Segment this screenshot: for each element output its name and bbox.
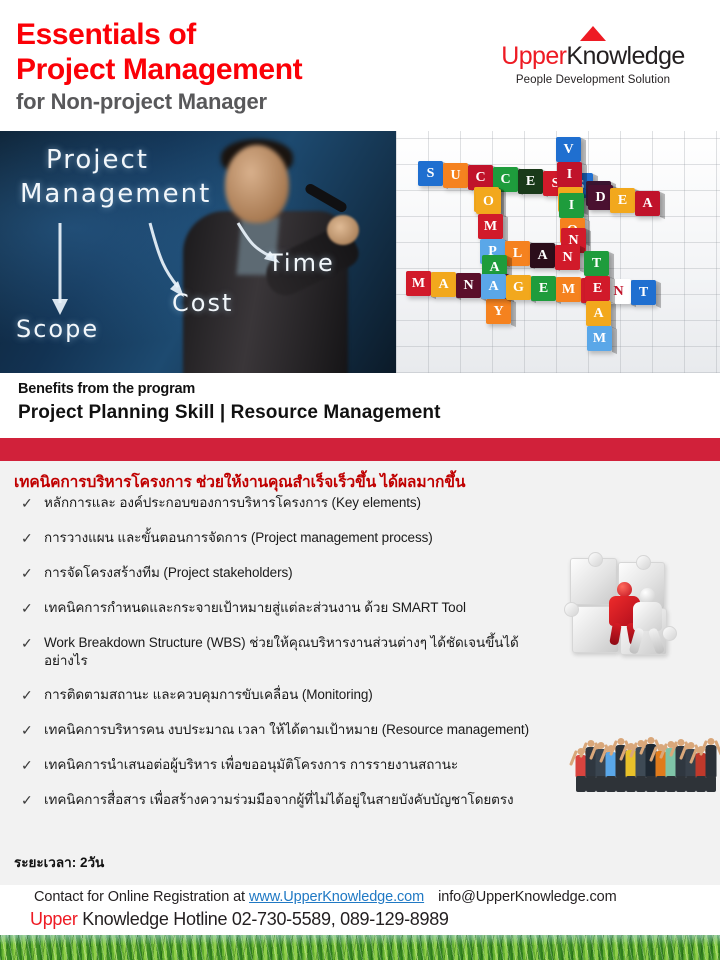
benefit-list-item-text: เทคนิคการสื่อสาร เพื่อสร้างความร่วมมือจา… <box>44 791 534 809</box>
logo-wordmark: UpperKnowledge <box>478 42 708 70</box>
title-line-2: Project Management <box>16 52 302 87</box>
person-head <box>648 737 655 744</box>
puzzle-knob <box>636 555 651 570</box>
benefit-list-item-text: การติดตามสถานะ และควบคุมการขับเคลื่อน (M… <box>44 686 534 704</box>
letter-cube: N <box>456 273 481 298</box>
person-body <box>706 745 717 777</box>
check-icon: ✓ <box>14 756 44 775</box>
handwriting-management: Management <box>20 179 211 209</box>
celebrating-people-illustration <box>566 720 716 792</box>
header: Essentials of Project Management for Non… <box>0 0 720 131</box>
letter-cube: N <box>555 245 580 270</box>
email-text: info@UpperKnowledge.com <box>438 889 616 905</box>
benefit-list-item: ✓เทคนิคการบริหารคน งบประมาณ เวลา ให้ได้ต… <box>14 721 534 740</box>
letter-cube: A <box>635 191 660 216</box>
red-divider-bar <box>0 438 720 461</box>
crossword-cubes-photo: SUCCESSVISIONIDEACOMPLANANYMANAGEMENTTEA… <box>396 131 720 373</box>
letter-cube: A <box>530 243 555 268</box>
check-icon: ✓ <box>14 721 44 740</box>
check-icon: ✓ <box>14 494 44 513</box>
benefit-list-item-text: การจัดโครงสร้างทีม (Project stakeholders… <box>44 564 534 582</box>
letter-cube: V <box>556 137 581 162</box>
letter-cube: T <box>584 251 609 276</box>
letter-cube: M <box>587 326 612 351</box>
white-figure-body <box>633 602 662 631</box>
puzzle-knob <box>564 602 579 617</box>
letter-cube: T <box>631 280 656 305</box>
check-icon: ✓ <box>14 599 44 618</box>
hotline-line: Upper Knowledge Hotline 02-730-5589, 089… <box>30 909 449 930</box>
project-management-photo: Project Management Scope Cost Time <box>0 131 396 373</box>
benefits-label: Benefits from the program <box>18 380 720 399</box>
logo-upper-text: Upper <box>501 42 566 70</box>
letter-cube: M <box>556 277 581 302</box>
letter-cube: O <box>476 189 501 214</box>
benefit-list-item: ✓หลักการและ องค์ประกอบของการบริหารโครงกา… <box>14 494 534 513</box>
letter-cube: I <box>559 193 584 218</box>
white-figure-leg <box>648 627 665 655</box>
logo-tagline: People Development Solution <box>478 74 708 86</box>
handwriting-cost: Cost <box>172 289 233 317</box>
check-icon: ✓ <box>14 634 44 653</box>
benefit-list-item: ✓การวางแผน และขั้นตอนการจัดการ (Project … <box>14 529 534 548</box>
benefit-list: ✓หลักการและ องค์ประกอบของการบริหารโครงกา… <box>14 494 534 826</box>
letter-cube: U <box>443 163 468 188</box>
title-line-1: Essentials of <box>16 17 302 52</box>
page-title: Essentials of Project Management for Non… <box>16 17 302 117</box>
benefit-list-item: ✓เทคนิคการนำเสนอต่อผู้บริหาร เพื่อขออนุม… <box>14 756 534 775</box>
check-icon: ✓ <box>14 791 44 810</box>
logo-knowledge-text: Knowledge <box>566 42 684 70</box>
letter-cube: I <box>557 162 582 187</box>
letter-cube: E <box>531 276 556 301</box>
grass-footer-strip <box>0 935 720 960</box>
puzzle-knob <box>588 552 603 567</box>
benefit-list-item-text: Work Breakdown Structure (WBS) ช่วยให้คุ… <box>44 634 534 670</box>
hotline-number: Knowledge Hotline 02-730-5589, 089-129-8… <box>78 909 449 929</box>
letter-cube: E <box>518 169 543 194</box>
footer: Contact for Online Registration atwww.Up… <box>0 885 720 935</box>
handwriting-scope: Scope <box>16 315 99 343</box>
person-silhouette <box>702 738 720 792</box>
benefit-list-item: ✓เทคนิคการกำหนดและกระจายเป้าหมายสู่แต่ละ… <box>14 599 534 618</box>
puzzle-illustration <box>566 550 678 660</box>
contact-prefix: Contact for Online Registration at <box>34 889 245 905</box>
benefit-list-item-text: หลักการและ องค์ประกอบของการบริหารโครงการ… <box>44 494 534 512</box>
contact-line: Contact for Online Registration atwww.Up… <box>34 889 617 905</box>
duration-label: ระยะเวลา: 2วัน <box>14 851 104 873</box>
letter-cube: G <box>506 275 531 300</box>
content-heading: เทคนิคการบริหารโครงการ ช่วยให้งานคุณสำเร… <box>14 469 465 494</box>
check-icon: ✓ <box>14 564 44 583</box>
benefit-list-item-text: เทคนิคการบริหารคน งบประมาณ เวลา ให้ได้ตา… <box>44 721 534 739</box>
benefit-list-item: ✓การจัดโครงสร้างทีม (Project stakeholder… <box>14 564 534 583</box>
letter-cube: E <box>585 276 610 301</box>
hero-images: Project Management Scope Cost Time SUCCE… <box>0 131 720 373</box>
white-figure-leg <box>629 627 645 654</box>
content-panel: เทคนิคการบริหารโครงการ ช่วยให้งานคุณสำเร… <box>0 461 720 885</box>
benefit-list-item: ✓เทคนิคการสื่อสาร เพื่อสร้างความร่วมมือจ… <box>14 791 534 810</box>
brand-logo: UpperKnowledge People Development Soluti… <box>478 26 708 86</box>
letter-cube: Y <box>486 299 511 324</box>
benefits-headline: Project Planning Skill | Resource Manage… <box>18 400 720 426</box>
benefit-list-item: ✓Work Breakdown Structure (WBS) ช่วยให้ค… <box>14 634 534 670</box>
letter-cube: A <box>431 272 456 297</box>
benefit-list-item-text: เทคนิคการกำหนดและกระจายเป้าหมายสู่แต่ละส… <box>44 599 534 617</box>
letter-cube: A <box>586 301 611 326</box>
benefit-list-item-text: การวางแผน และขั้นตอนการจัดการ (Project m… <box>44 529 534 547</box>
letter-cube: M <box>406 271 431 296</box>
handwriting-time: Time <box>268 249 335 277</box>
letter-cube: S <box>418 161 443 186</box>
letter-cube: M <box>478 214 503 239</box>
hotline-brand: Upper <box>30 909 78 929</box>
website-link[interactable]: www.UpperKnowledge.com <box>249 889 424 905</box>
poster-page: Essentials of Project Management for Non… <box>0 0 720 960</box>
check-icon: ✓ <box>14 686 44 705</box>
triangle-icon <box>580 26 606 41</box>
grass-blades <box>0 935 720 960</box>
person-head <box>708 738 715 745</box>
benefits-band: Benefits from the program Project Planni… <box>0 373 720 438</box>
letter-cube: E <box>610 188 635 213</box>
benefit-list-item: ✓การติดตามสถานะ และควบคุมการขับเคลื่อน (… <box>14 686 534 705</box>
person-legs <box>706 776 716 792</box>
page-subtitle: for Non-project Manager <box>16 87 302 117</box>
white-figure <box>628 588 668 654</box>
check-icon: ✓ <box>14 529 44 548</box>
handwriting-project: Project <box>46 145 149 175</box>
benefit-list-item-text: เทคนิคการนำเสนอต่อผู้บริหาร เพื่อขออนุมั… <box>44 756 534 774</box>
letter-cube: A <box>481 274 506 299</box>
white-figure-head <box>640 588 655 603</box>
